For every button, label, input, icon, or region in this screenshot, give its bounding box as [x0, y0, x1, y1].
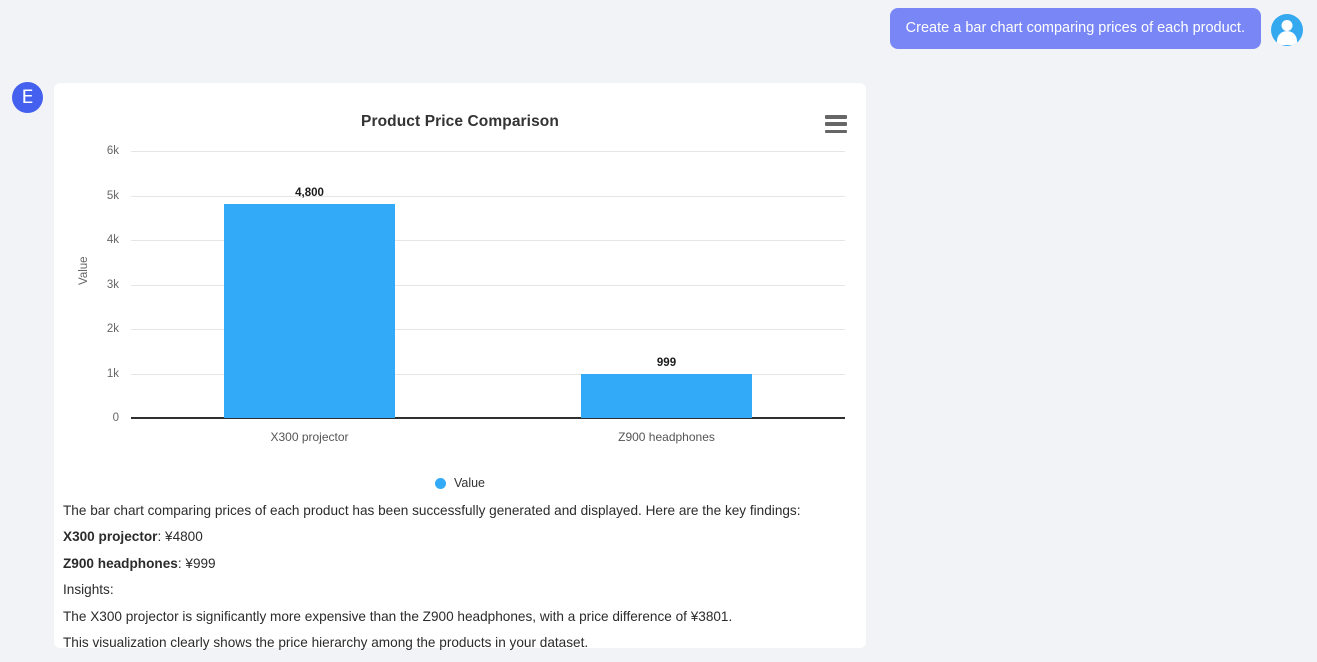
summary-insight-1: The X300 projector is significantly more… — [63, 609, 857, 626]
chart-legend: Value — [54, 476, 866, 490]
user-avatar-icon — [1271, 14, 1303, 46]
avatar-body-shape — [1277, 31, 1297, 45]
menu-bar-2 — [825, 122, 847, 126]
summary-text: The bar chart comparing prices of each p… — [63, 503, 857, 662]
summary-insight-2: This visualization clearly shows the pri… — [63, 635, 857, 652]
legend-label: Value — [454, 476, 485, 490]
summary-item-2-label: Z900 headphones — [63, 556, 178, 571]
y-axis-title: Value — [78, 256, 90, 285]
summary-item-2-value: : ¥999 — [178, 556, 216, 571]
assistant-response-card: Product Price Comparison Value 6k5k4k3k2… — [54, 83, 866, 648]
chart-plot-area: 6k5k4k3k2k1k04,800X300 projector999Z900 … — [131, 151, 845, 418]
y-axis-tick-label: 4k — [107, 234, 119, 246]
x-axis-tick-label: X300 projector — [270, 430, 348, 444]
y-axis-tick-label: 0 — [113, 412, 119, 424]
assistant-logo-icon: E — [12, 82, 43, 113]
summary-insights-label: Insights: — [63, 582, 857, 599]
user-message-bubble: Create a bar chart comparing prices of e… — [890, 8, 1261, 49]
avatar-head-shape — [1282, 20, 1293, 31]
y-axis-tick-label: 1k — [107, 368, 119, 380]
menu-bar-3 — [825, 130, 847, 134]
legend-marker-icon — [435, 478, 446, 489]
summary-item-2: Z900 headphones: ¥999 — [63, 556, 857, 573]
chart-bar[interactable]: 999Z900 headphones — [581, 374, 752, 418]
bar-data-label: 999 — [657, 357, 676, 369]
summary-item-1-value: : ¥4800 — [157, 529, 202, 544]
chart-bar[interactable]: 4,800X300 projector — [224, 204, 395, 418]
y-axis-tick-label: 5k — [107, 190, 119, 202]
hamburger-menu-icon[interactable] — [825, 115, 847, 133]
y-gridline — [131, 196, 845, 197]
x-axis-tick-label: Z900 headphones — [618, 430, 715, 444]
bar-data-label: 4,800 — [295, 187, 324, 199]
chart-title: Product Price Comparison — [54, 113, 866, 131]
chart-container: Product Price Comparison Value 6k5k4k3k2… — [54, 83, 866, 503]
summary-item-1-label: X300 projector — [63, 529, 157, 544]
y-axis-tick-label: 6k — [107, 145, 119, 157]
y-gridline — [131, 151, 845, 152]
y-axis-tick-label: 3k — [107, 279, 119, 291]
summary-item-1: X300 projector: ¥4800 — [63, 529, 857, 546]
y-axis-tick-label: 2k — [107, 323, 119, 335]
menu-bar-1 — [825, 115, 847, 119]
summary-intro: The bar chart comparing prices of each p… — [63, 503, 857, 520]
user-message-row: Create a bar chart comparing prices of e… — [890, 8, 1303, 49]
